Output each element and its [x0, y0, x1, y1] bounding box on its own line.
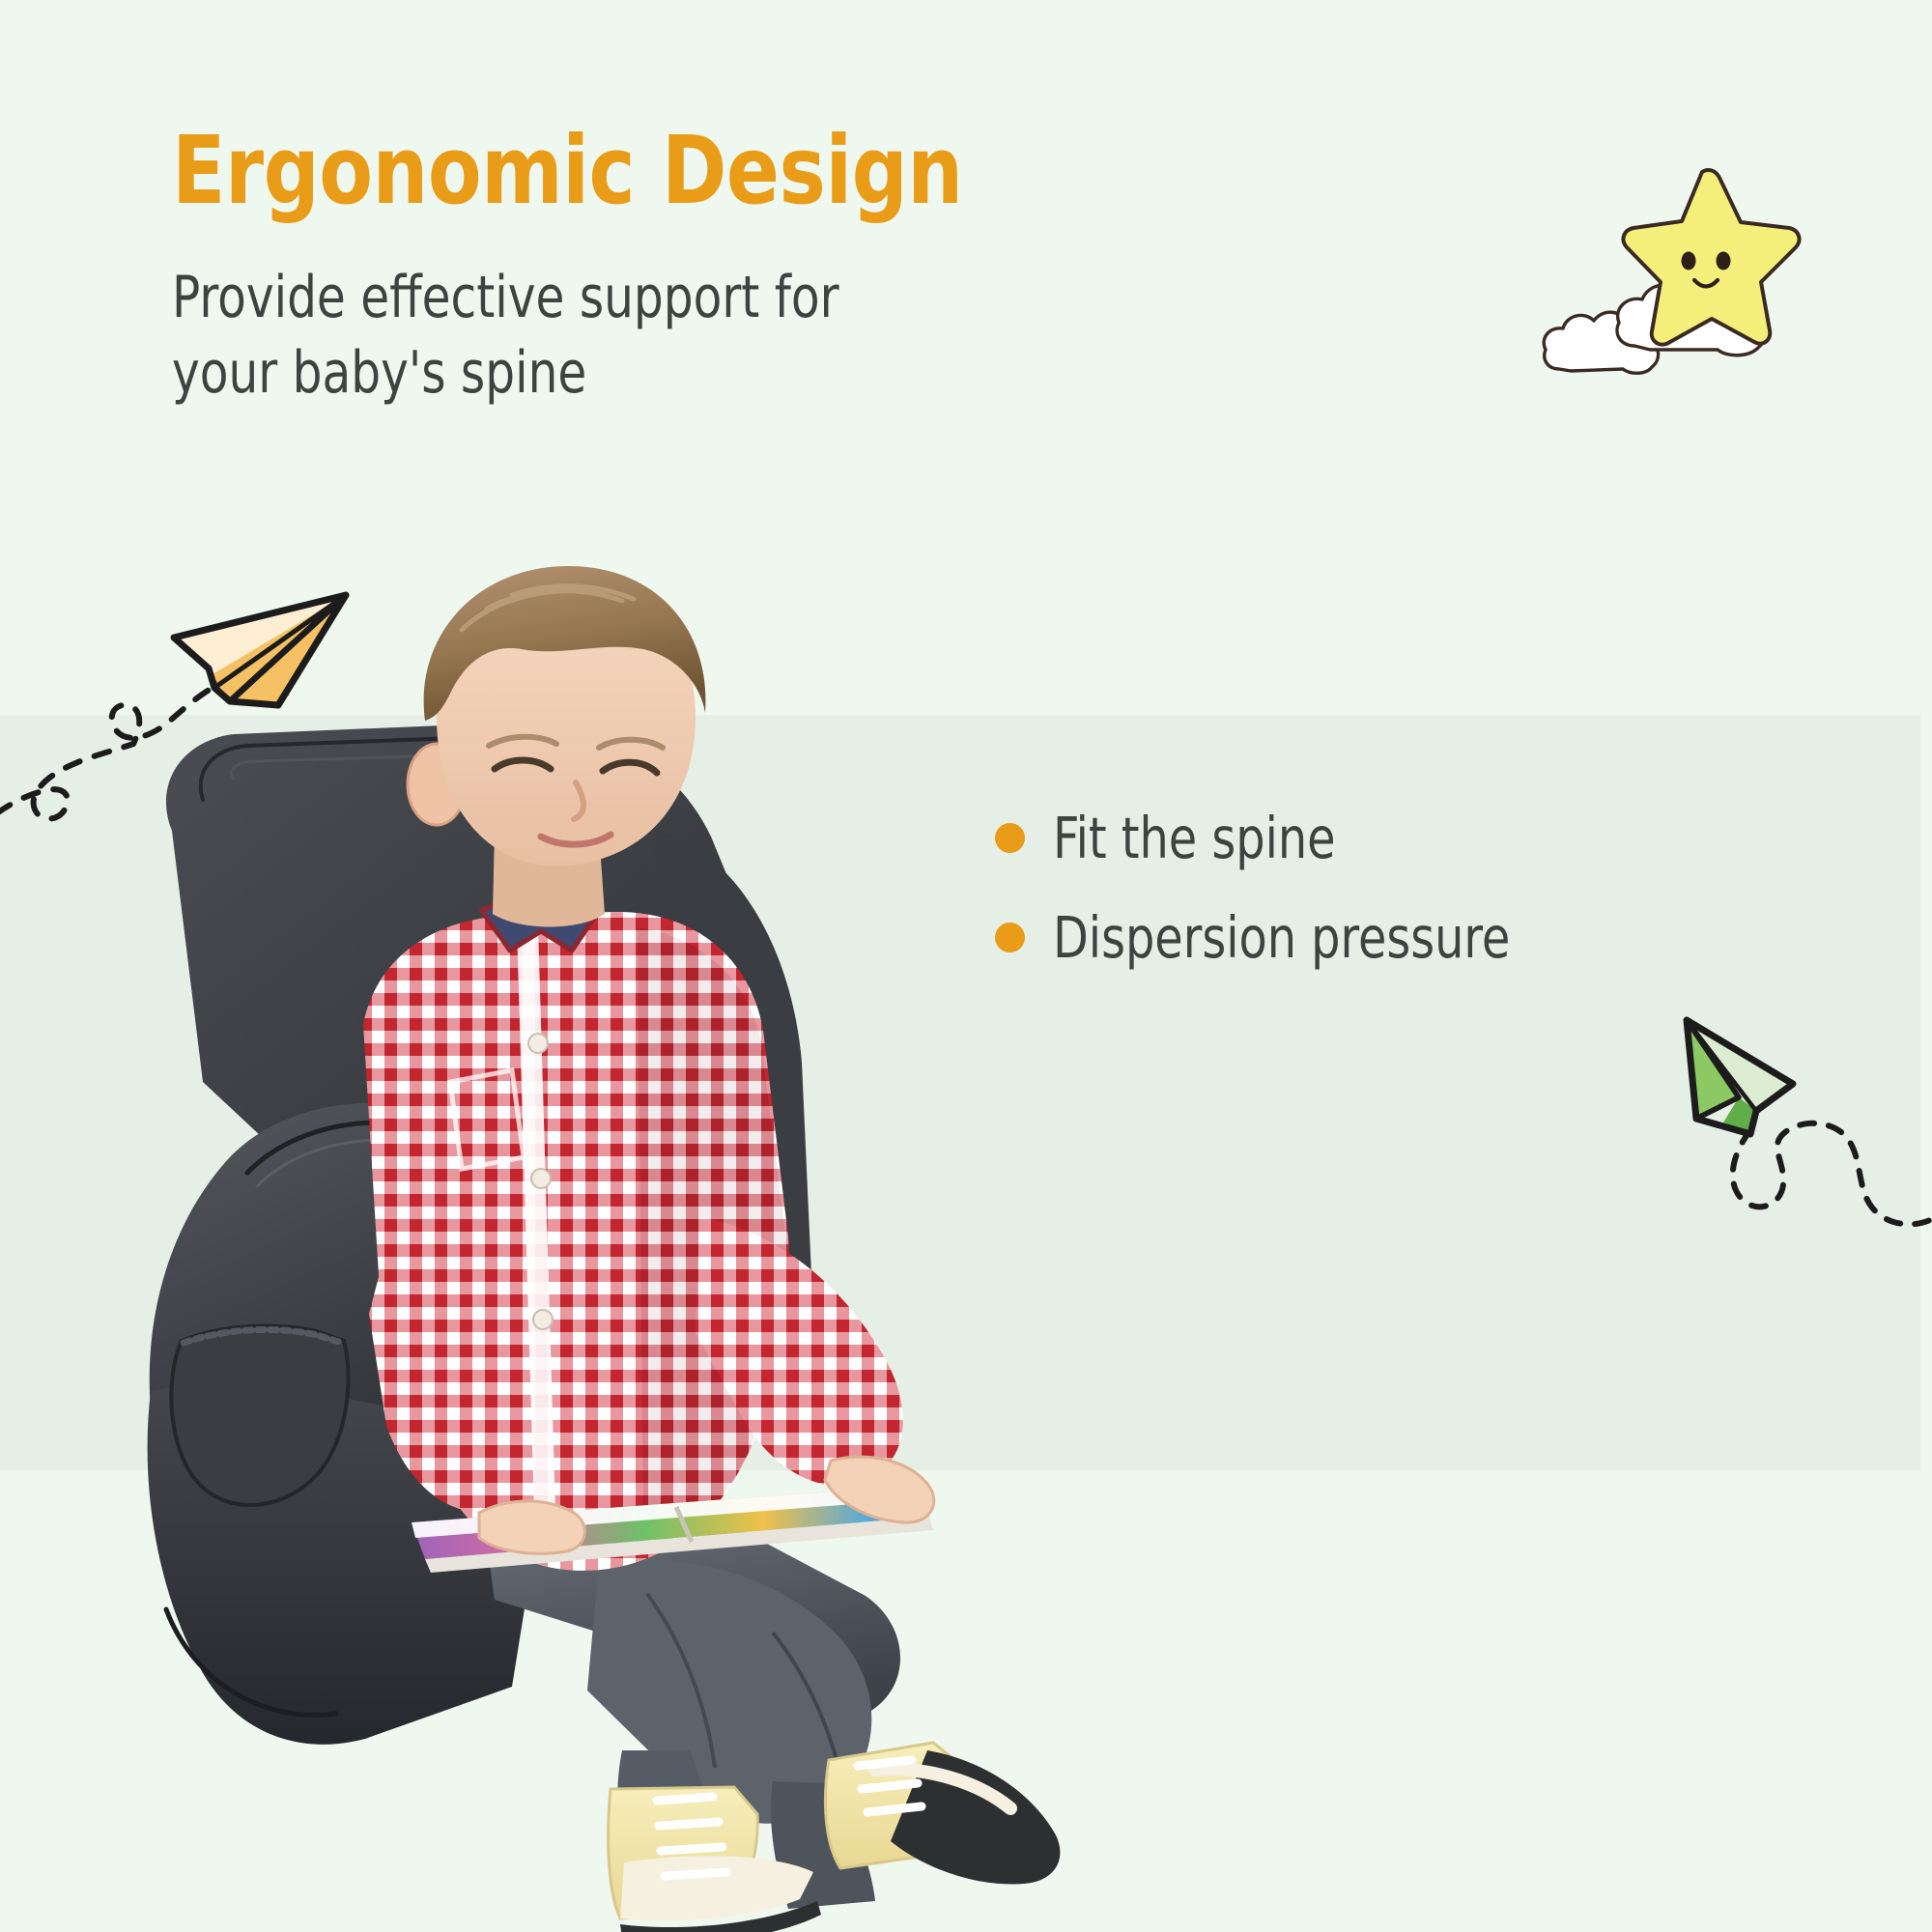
- marketing-banner: Ergonomic Design Provide effective suppo…: [0, 0, 1932, 1932]
- star-eye-left-icon: [1682, 252, 1696, 270]
- shirt-button: [528, 1034, 548, 1053]
- shirt-button: [533, 1310, 553, 1329]
- page-title: Ergonomic Design: [172, 124, 1116, 217]
- subtitle-line-2: your baby's spine: [172, 335, 1085, 411]
- headline-block: Ergonomic Design Provide effective suppo…: [172, 124, 1186, 411]
- product-lifestyle-photo: [58, 541, 1140, 1932]
- subtitle-line-1: Provide effective support for: [172, 260, 1085, 335]
- paper-plane-right-doodle: [1604, 976, 1932, 1265]
- boy-hand-left: [479, 1501, 584, 1553]
- star-eye-right-icon: [1717, 252, 1731, 270]
- star-cloud-doodle: [1542, 145, 1832, 396]
- shoe-left-midsole: [620, 1856, 813, 1920]
- page-subtitle: Provide effective support for your baby'…: [172, 260, 1085, 411]
- shirt-button: [531, 1169, 551, 1188]
- flight-trail: [1733, 1123, 1932, 1225]
